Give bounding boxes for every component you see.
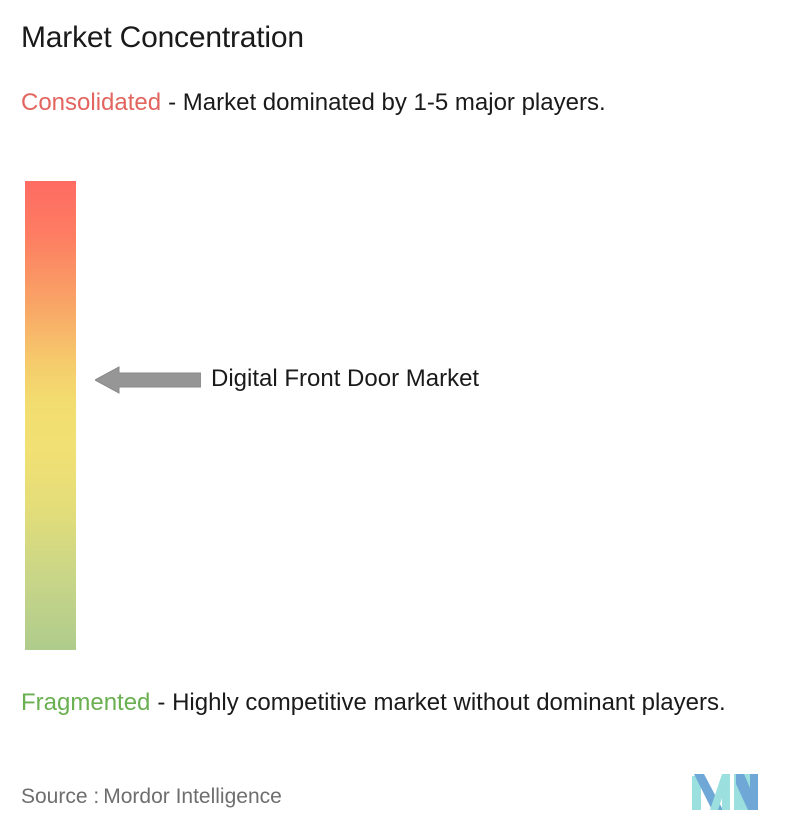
mordor-intelligence-logo-icon — [692, 772, 758, 812]
legend-fragmented-term: Fragmented — [21, 689, 150, 716]
legend-fragmented-description: - Highly competitive market without domi… — [157, 689, 725, 716]
source-attribution: Source :Mordor Intelligence — [21, 783, 282, 810]
legend-consolidated: Consolidated- Market dominated by 1-5 ma… — [21, 86, 766, 119]
legend-consolidated-term: Consolidated — [21, 89, 161, 116]
legend-fragmented: Fragmented- Highly competitive market wi… — [21, 686, 783, 719]
page-title: Market Concentration — [21, 20, 304, 56]
market-pointer-label: Digital Front Door Market — [211, 364, 479, 394]
source-label: Source : — [21, 785, 99, 808]
market-pointer-arrow — [95, 366, 201, 394]
source-value: Mordor Intelligence — [103, 785, 282, 808]
concentration-gradient-bar — [25, 181, 76, 650]
legend-consolidated-description: - Market dominated by 1-5 major players. — [168, 89, 606, 116]
market-concentration-figure: Market Concentration Consolidated- Marke… — [0, 0, 796, 834]
